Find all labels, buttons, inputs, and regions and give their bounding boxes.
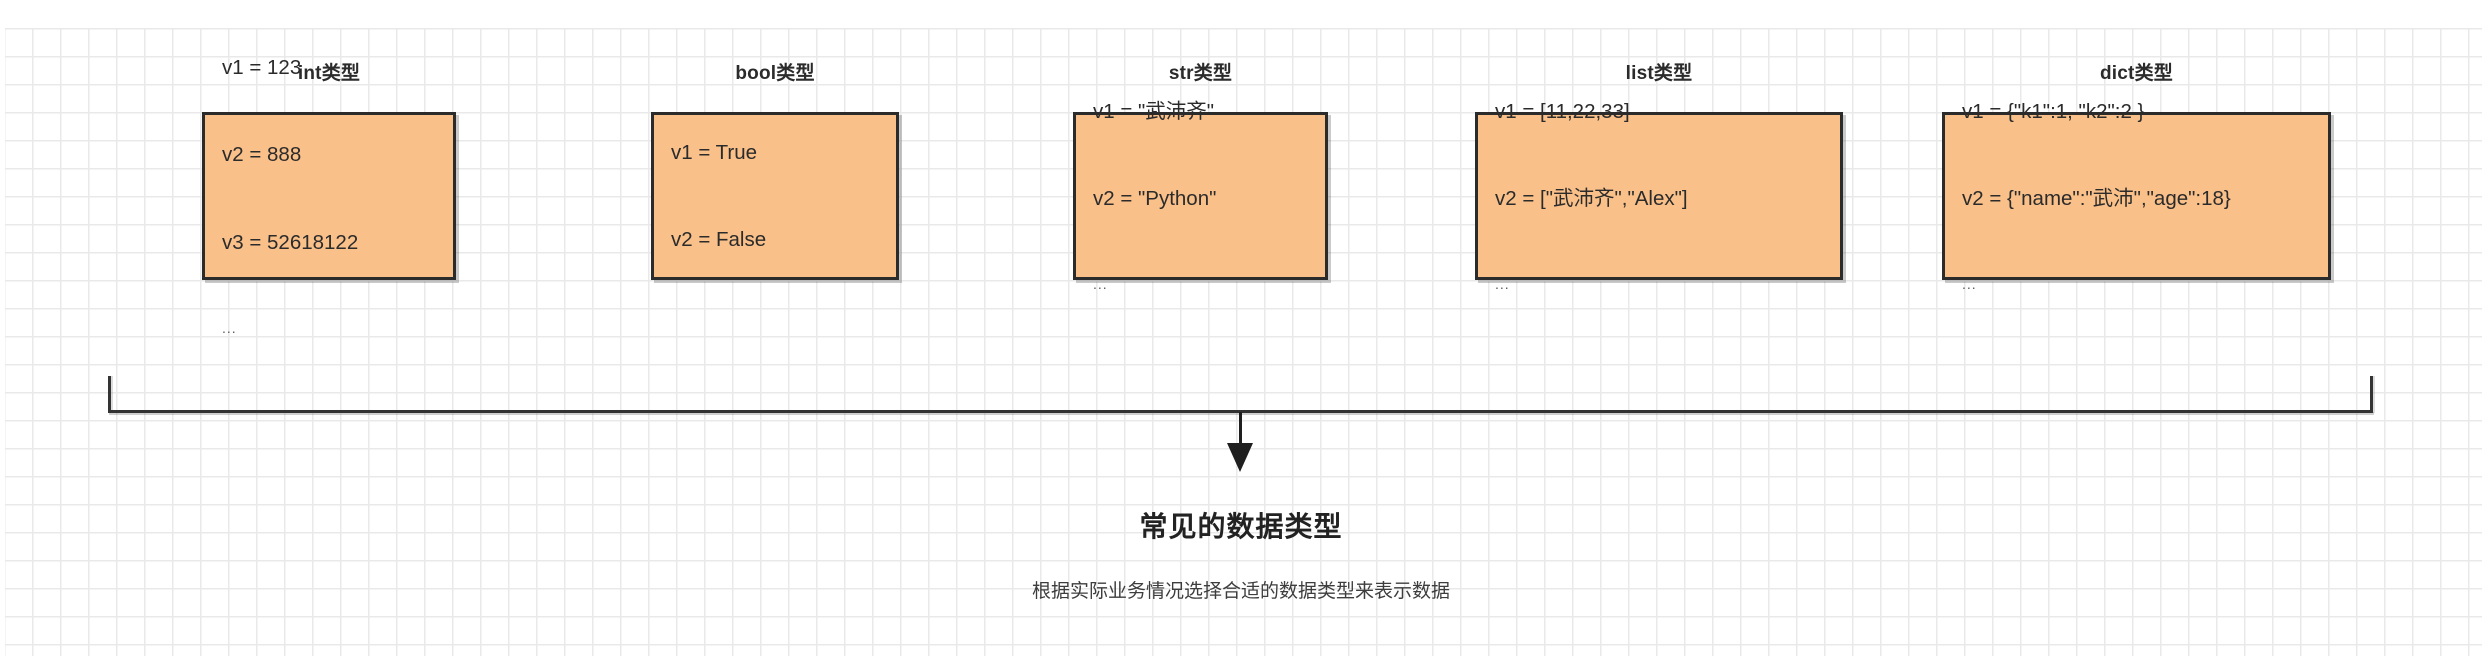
bracket-left-tick xyxy=(108,376,111,413)
diagram-canvas: int类型 v1 = 123 v2 = 888 v3 = 52618122 ..… xyxy=(0,0,2482,656)
down-arrow-head xyxy=(1227,443,1253,472)
footer-subtitle: 根据实际业务情况选择合适的数据类型来表示数据 xyxy=(0,576,2482,603)
down-arrow-shaft xyxy=(1239,412,1242,445)
bracket-right-tick xyxy=(2370,376,2373,413)
bracket-connector xyxy=(0,0,2482,480)
footer-title: 常见的数据类型 xyxy=(0,505,2482,545)
